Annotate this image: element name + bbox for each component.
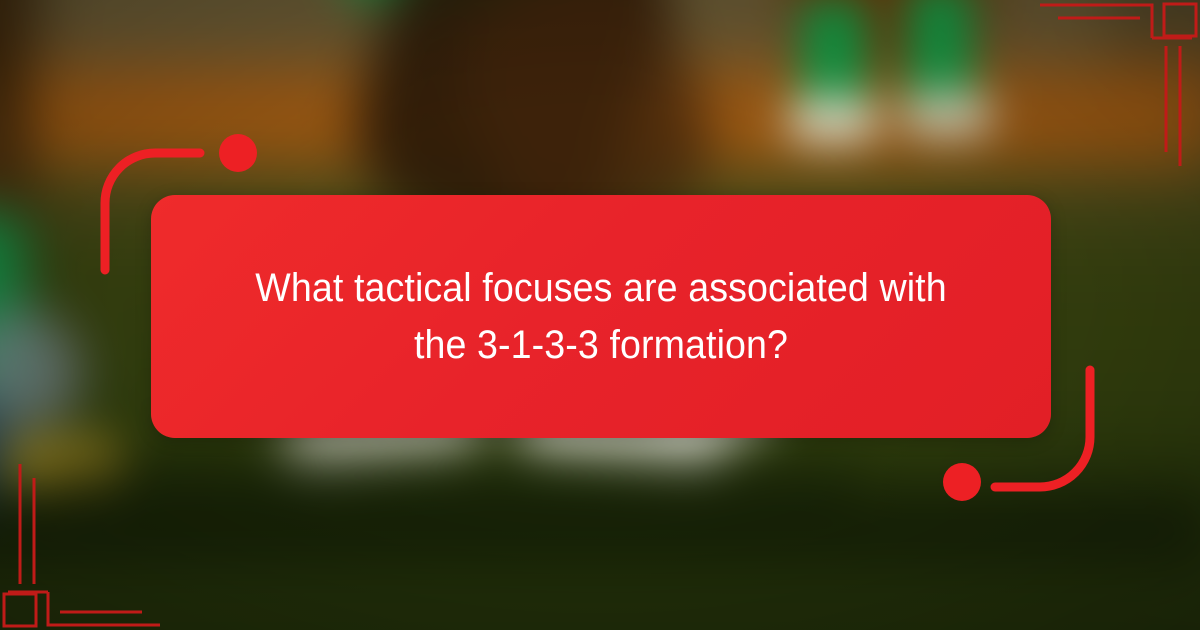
question-card[interactable]: What tactical focuses are associated wit… (151, 195, 1051, 438)
poster-canvas: What tactical focuses are associated wit… (0, 0, 1200, 630)
question-text: What tactical focuses are associated wit… (231, 260, 972, 374)
